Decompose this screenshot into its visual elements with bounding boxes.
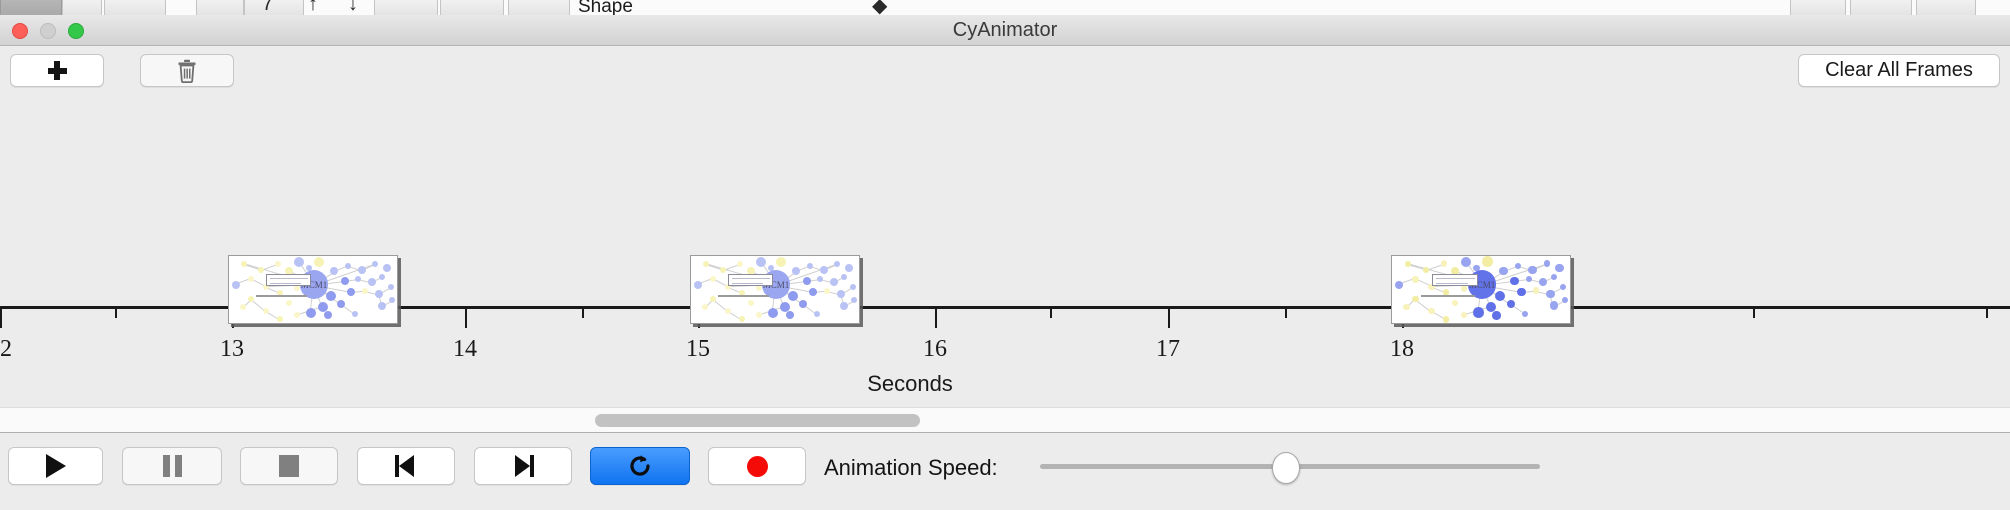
- background-toolbar-chip: [244, 0, 304, 16]
- network-node: [1482, 256, 1493, 267]
- skip-end-icon: [512, 455, 534, 477]
- pause-icon: [163, 455, 182, 477]
- window-title: CyAnimator: [0, 19, 2010, 42]
- frame-thumbnail-3[interactable]: MCM1: [1391, 255, 1571, 324]
- toolbar: Clear All Frames: [0, 46, 2010, 89]
- network-node: [710, 296, 716, 302]
- axis-tick-minor: [1753, 309, 1755, 318]
- network-node: [355, 276, 361, 282]
- network-thumbnail: MCM1: [1392, 256, 1570, 323]
- axis-tick-label: 16: [923, 336, 947, 363]
- network-tooltip-box: [728, 274, 772, 286]
- network-node: [788, 291, 798, 301]
- axis-tick-minor: [1285, 309, 1287, 318]
- record-icon: [747, 456, 768, 477]
- network-tooltip-text-line: [732, 283, 762, 285]
- background-toolbar-chip: [1916, 0, 1976, 16]
- axis-tick-minor: [1986, 309, 1988, 318]
- network-node: [362, 288, 368, 294]
- network-node: [694, 281, 702, 289]
- network-node: [1510, 277, 1518, 285]
- axis-tick-major: [0, 309, 2, 328]
- network-node: [1412, 276, 1418, 282]
- network-node: [834, 261, 840, 267]
- network-node: [841, 274, 847, 280]
- network-node: [1428, 308, 1434, 314]
- background-toolbar-chip: [0, 0, 62, 16]
- network-node: [352, 311, 358, 317]
- network-node: [240, 304, 246, 310]
- network-node: [324, 311, 332, 319]
- title-bar: CyAnimator: [0, 15, 2010, 46]
- network-node: [1555, 264, 1563, 272]
- network-tooltip-box: [266, 274, 310, 286]
- network-node: [1533, 287, 1539, 293]
- network-node: [379, 274, 385, 280]
- axis-tick-label: 14: [453, 336, 477, 363]
- delete-frame-button[interactable]: [140, 54, 234, 87]
- loop-button[interactable]: [590, 447, 690, 485]
- axis-title: Seconds: [867, 371, 953, 397]
- network-node: [702, 304, 708, 310]
- scrollbar-thumb[interactable]: [595, 414, 920, 427]
- background-toolbar-glyph: 7: [262, 0, 273, 16]
- network-node: [286, 300, 292, 306]
- skip-end-button[interactable]: [474, 447, 572, 485]
- network-node: [1461, 312, 1467, 318]
- axis-tick-label: 13: [220, 336, 244, 363]
- skip-start-button[interactable]: [357, 447, 455, 485]
- animation-speed-slider-thumb[interactable]: [1272, 452, 1300, 484]
- network-node: [1562, 297, 1568, 303]
- network-node: [768, 308, 778, 318]
- network-node: [1423, 267, 1429, 273]
- axis-tick-minor: [115, 309, 117, 318]
- network-node: [1443, 316, 1449, 322]
- network-node: [314, 257, 324, 267]
- horizontal-scrollbar[interactable]: [0, 407, 2010, 433]
- network-node: [830, 278, 838, 286]
- network-node: [850, 284, 856, 290]
- network-node: [1517, 288, 1525, 296]
- network-node: [383, 264, 391, 272]
- playback-control-bar: Animation Speed:: [0, 433, 2010, 510]
- network-node: [341, 277, 349, 285]
- network-node: [710, 276, 716, 282]
- network-node: [248, 296, 254, 302]
- frame-thumbnail-1[interactable]: MCM1: [228, 255, 398, 324]
- network-node: [389, 297, 395, 303]
- axis-tick-major: [935, 309, 937, 328]
- network-node: [1515, 263, 1521, 269]
- axis-tick-label: 17: [1156, 336, 1180, 363]
- axis-tick-label: 12: [0, 336, 12, 363]
- plus-icon: [48, 61, 67, 80]
- network-node: [1528, 266, 1536, 274]
- network-node: [248, 276, 254, 282]
- network-node: [1546, 290, 1554, 298]
- background-toolbar-glyph: ↓: [348, 0, 358, 16]
- skip-start-icon: [395, 455, 417, 477]
- network-tooltip-text-line: [270, 283, 300, 285]
- network-node: [817, 276, 823, 282]
- add-frame-button[interactable]: [10, 54, 104, 87]
- background-toolbar-glyph: ◆: [872, 0, 887, 16]
- network-node: [306, 308, 316, 318]
- network-node: [792, 267, 800, 275]
- network-node: [1461, 285, 1467, 291]
- network-node: [824, 288, 830, 294]
- network-node: [1539, 278, 1547, 286]
- network-node: [1526, 276, 1532, 282]
- background-toolbar-chip: [440, 0, 504, 16]
- network-node: [1550, 301, 1558, 309]
- axis-tick-minor: [582, 309, 584, 318]
- network-node: [1412, 296, 1418, 302]
- network-node: [326, 291, 336, 301]
- axis-tick-major: [1168, 309, 1170, 328]
- network-node: [1499, 267, 1507, 275]
- cyanimator-window: 7↑↓◆Shape CyAnimator Clear All Frames: [0, 0, 2010, 510]
- animation-speed-label: Animation Speed:: [824, 455, 998, 481]
- network-node: [1492, 311, 1500, 319]
- loop-icon: [627, 453, 653, 479]
- background-toolbar-chip: [1790, 0, 1846, 16]
- background-window-strip: 7↑↓◆Shape: [0, 0, 2010, 16]
- network-node: [368, 278, 376, 286]
- network-node: [720, 267, 726, 273]
- background-window-label: Shape: [578, 0, 633, 16]
- timeline-panel[interactable]: 12131415161718SecondsMCM1MCM1MCM1: [0, 88, 2010, 407]
- network-node: [756, 312, 762, 318]
- stop-button: [240, 447, 338, 485]
- pause-button: [122, 447, 222, 485]
- network-node: [737, 261, 743, 267]
- network-tooltip-text-line: [1436, 278, 1476, 280]
- network-node: [1560, 284, 1566, 290]
- background-toolbar-chip: [196, 0, 244, 16]
- background-toolbar-chip: [62, 0, 102, 16]
- network-node: [814, 311, 820, 317]
- network-tooltip-text-line: [270, 278, 307, 280]
- play-icon: [46, 454, 66, 478]
- network-node: [277, 316, 283, 322]
- axis-tick-label: 18: [1390, 336, 1414, 363]
- network-node: [756, 257, 766, 267]
- network-caption-line: [1421, 295, 1475, 297]
- background-toolbar-chip: [374, 0, 438, 16]
- background-toolbar-chip: [508, 0, 570, 16]
- frame-thumbnail-2[interactable]: MCM1: [690, 255, 860, 324]
- network-node: [358, 266, 366, 274]
- network-node: [1403, 304, 1409, 310]
- record-button[interactable]: [708, 447, 806, 485]
- network-node: [1544, 260, 1550, 266]
- network-node: [294, 312, 300, 318]
- network-node: [1473, 307, 1484, 318]
- network-node: [258, 267, 264, 273]
- trash-icon: [176, 59, 198, 83]
- network-node: [837, 290, 845, 298]
- network-node: [294, 257, 304, 267]
- network-node: [1441, 260, 1447, 266]
- network-node: [748, 300, 754, 306]
- stop-icon: [279, 455, 299, 477]
- network-node: [851, 297, 857, 303]
- network-node: [275, 261, 281, 267]
- network-node: [1405, 261, 1411, 267]
- clear-all-frames-button[interactable]: Clear All Frames: [1798, 54, 2000, 87]
- network-node: [739, 316, 745, 322]
- network-node: [703, 261, 709, 267]
- network-node: [330, 267, 338, 275]
- network-node: [388, 284, 394, 290]
- background-toolbar-chip: [104, 0, 166, 16]
- network-thumbnail: MCM1: [691, 256, 859, 323]
- axis-tick-major: [465, 309, 467, 328]
- network-node: [803, 277, 811, 285]
- network-node: [1522, 311, 1528, 317]
- network-node: [345, 263, 351, 269]
- network-node: [375, 290, 383, 298]
- network-node: [809, 288, 817, 296]
- network-node: [776, 257, 786, 267]
- network-tooltip-text-line: [732, 278, 769, 280]
- network-node: [845, 264, 853, 272]
- network-node: [1452, 300, 1458, 306]
- network-node: [807, 263, 813, 269]
- network-node: [1551, 274, 1557, 280]
- network-node: [241, 261, 247, 267]
- network-tooltip-box: [1432, 274, 1479, 286]
- network-caption-line: [256, 295, 307, 297]
- play-button[interactable]: [8, 447, 103, 485]
- network-caption-line: [718, 295, 769, 297]
- network-tooltip-text-line: [1436, 283, 1469, 285]
- network-node: [1395, 281, 1403, 289]
- axis-tick-label: 15: [686, 336, 710, 363]
- network-node: [232, 281, 240, 289]
- clear-all-frames-label: Clear All Frames: [1825, 59, 1973, 82]
- background-toolbar-chip: [1850, 0, 1912, 16]
- network-thumbnail: MCM1: [229, 256, 397, 323]
- network-node: [840, 302, 848, 310]
- network-node: [372, 261, 378, 267]
- network-node: [820, 266, 828, 274]
- axis-tick-minor: [1050, 309, 1052, 318]
- network-node: [786, 311, 794, 319]
- background-toolbar-glyph: ↑: [308, 0, 318, 16]
- network-node: [347, 288, 355, 296]
- network-node: [378, 302, 386, 310]
